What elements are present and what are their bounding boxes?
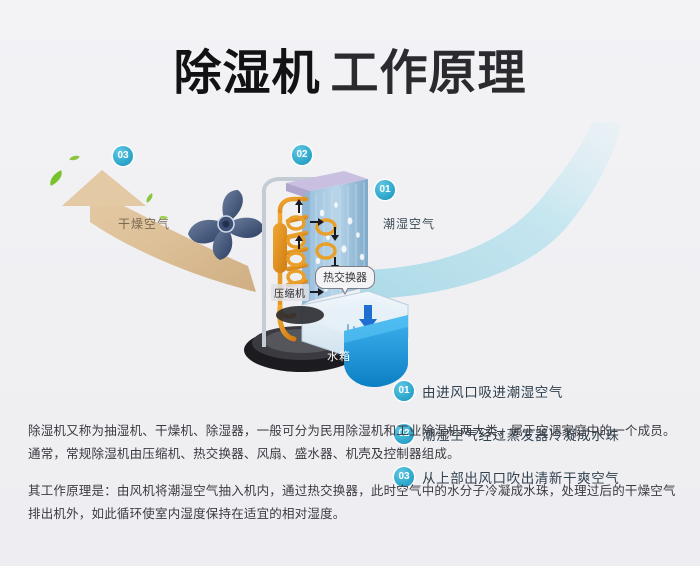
heat-exchanger-callout: 热交换器 bbox=[315, 266, 375, 289]
page-title: 除湿机工作原理 bbox=[0, 33, 700, 103]
legend-text-01: 由进风口吸进潮湿空气 bbox=[422, 381, 563, 401]
badge-heat-exchanger-02: 02 bbox=[292, 145, 312, 165]
humid-air-label: 潮湿空气 bbox=[383, 215, 435, 232]
infographic-page: 除湿机工作原理 bbox=[0, 0, 700, 566]
badge-humid-air-01: 01 bbox=[375, 180, 395, 200]
page-title-part2: 工作原理 bbox=[331, 47, 527, 100]
badge-dry-air-03: 03 bbox=[113, 146, 133, 166]
paragraph-1: 除湿机又称为抽湿机、干燥机、除湿器，一般可分为民用除湿机和工业除湿机两大类，属于… bbox=[28, 420, 676, 466]
dehumidifier-diagram: 干燥空气 03 bbox=[0, 120, 700, 390]
page-title-part1: 除湿机 bbox=[173, 47, 320, 100]
legend-item: 01 由进风口吸进潮湿空气 bbox=[394, 378, 684, 404]
water-tank-label: 水箱 bbox=[327, 348, 351, 364]
paragraph-2: 其工作原理是：由风机将潮湿空气抽入机内，通过热交换器，此时空气中的水分子冷凝成水… bbox=[28, 480, 676, 526]
compressor-label: 压缩机 bbox=[271, 284, 309, 301]
legend-badge-01: 01 bbox=[394, 381, 414, 401]
description-copy: 除湿机又称为抽湿机、干燥机、除湿器，一般可分为民用除湿机和工业除湿机两大类，属于… bbox=[28, 420, 676, 526]
